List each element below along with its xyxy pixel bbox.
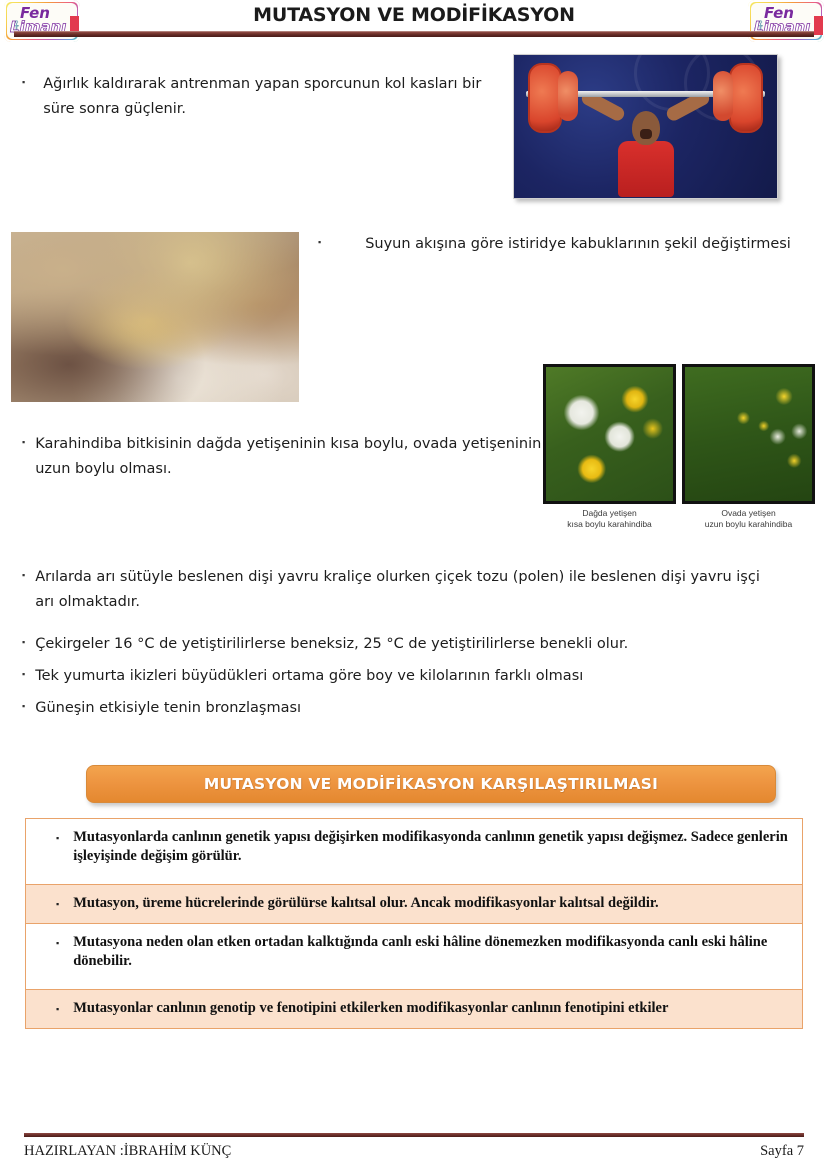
athlete-torso — [618, 141, 674, 197]
plain-dandelion-photo — [682, 364, 815, 504]
dandelion-caption-row: Dağda yetişen kısa boylu karahindiba Ova… — [543, 508, 815, 530]
bullet-marker-icon: ▪ — [56, 828, 59, 848]
footer-divider — [24, 1133, 804, 1137]
bullet-marker-icon: ▪ — [22, 432, 25, 452]
bullet-text-weightlifter: Ağırlık kaldırarak antrenman yapan sporc… — [43, 72, 492, 122]
brand-flag-shape — [814, 16, 823, 35]
athlete-mouth — [640, 129, 652, 139]
page-header: ⚓ Fen Limanı MUTASYON VE MODİFİKASYON ⚓ … — [0, 0, 828, 42]
page-title: MUTASYON VE MODİFİKASYON — [0, 4, 828, 26]
bullet-item-weightlifter: ▪ Ağırlık kaldırarak antrenman yapan spo… — [22, 72, 492, 122]
bullet-marker-icon: ▪ — [22, 565, 25, 585]
footer-page-number: Sayfa 7 — [760, 1143, 804, 1160]
bullet-item-sun: ▪ Güneşin etkisiyle tenin bronzlaşması — [22, 696, 722, 721]
oyster-shells-photo — [11, 232, 299, 402]
bullet-item-grasshopper: ▪ Çekirgeler 16 °C de yetiştirilirlerse … — [22, 632, 722, 657]
bullet-text-dandelion: Karahindiba bitkisinin dağda yetişeninin… — [35, 432, 542, 482]
table-row-text: Mutasyonlar canlının genotip ve fenotipi… — [73, 999, 668, 1018]
footer-author: HAZIRLAYAN :İBRAHİM KÜNÇ — [24, 1143, 231, 1160]
bullet-text-sun: Güneşin etkisiyle tenin bronzlaşması — [35, 696, 301, 721]
dandelion-photo-pair — [543, 364, 815, 504]
bullet-item-oyster: ▪ Suyun akışına göre istiridye kabukları… — [318, 232, 818, 257]
bullet-item-bee: ▪ Arılarda arı sütüyle beslenen dişi yav… — [22, 565, 782, 615]
table-row-text: Mutasyonlarda canlının genetik yapısı de… — [73, 828, 788, 866]
barbell-plate-right — [729, 63, 763, 133]
bullet-marker-icon: ▪ — [22, 696, 25, 716]
bullet-text-bee: Arılarda arı sütüyle beslenen dişi yavru… — [35, 565, 782, 615]
barbell-plate-inner-left — [558, 71, 578, 121]
table-row: ▪ Mutasyonlar canlının genotip ve fenoti… — [26, 990, 802, 1028]
table-row: ▪ Mutasyonlarda canlının genetik yapısı … — [26, 819, 802, 885]
bullet-text-twins: Tek yumurta ikizleri büyüdükleri ortama … — [35, 664, 583, 689]
caption-plain-line1: Ovada yetişen — [682, 508, 815, 519]
bullet-marker-icon: ▪ — [318, 232, 321, 252]
weightlifter-photo — [513, 54, 778, 199]
barbell-plate-left — [528, 63, 562, 133]
table-row-text: Mutasyona neden olan etken ortadan kalkt… — [73, 933, 788, 971]
caption-mountain-line2: kısa boylu karahindiba — [543, 519, 676, 530]
bullet-text-grasshopper: Çekirgeler 16 °C de yetiştirilirlerse be… — [35, 632, 628, 657]
bullet-marker-icon: ▪ — [56, 933, 59, 953]
comparison-table: ▪ Mutasyonlarda canlının genetik yapısı … — [25, 818, 803, 1029]
page-footer: HAZIRLAYAN :İBRAHİM KÜNÇ Sayfa 7 — [0, 1127, 828, 1171]
bullet-text-oyster: Suyun akışına göre istiridye kabuklarını… — [365, 232, 791, 257]
comparison-banner: MUTASYON VE MODİFİKASYON KARŞILAŞTIRILMA… — [86, 765, 776, 803]
comparison-banner-title: MUTASYON VE MODİFİKASYON KARŞILAŞTIRILMA… — [204, 775, 658, 793]
caption-plain-line2: uzun boylu karahindiba — [682, 519, 815, 530]
table-row: ▪ Mutasyona neden olan etken ortadan kal… — [26, 924, 802, 990]
table-row: ▪ Mutasyon, üreme hücrelerinde görülürse… — [26, 885, 802, 924]
bullet-marker-icon: ▪ — [56, 999, 59, 1019]
bullet-marker-icon: ▪ — [22, 72, 25, 92]
bullet-marker-icon: ▪ — [56, 894, 59, 914]
caption-plain-dandelion: Ovada yetişen uzun boylu karahindiba — [682, 508, 815, 530]
bullet-marker-icon: ▪ — [22, 632, 25, 652]
barbell-plate-inner-right — [713, 71, 733, 121]
bullet-marker-icon: ▪ — [22, 664, 25, 684]
caption-mountain-dandelion: Dağda yetişen kısa boylu karahindiba — [543, 508, 676, 530]
header-divider — [14, 31, 814, 37]
bullet-item-dandelion: ▪ Karahindiba bitkisinin dağda yetişenin… — [22, 432, 542, 482]
table-row-text: Mutasyon, üreme hücrelerinde görülürse k… — [73, 894, 658, 913]
bullet-item-twins: ▪ Tek yumurta ikizleri büyüdükleri ortam… — [22, 664, 722, 689]
caption-mountain-line1: Dağda yetişen — [543, 508, 676, 519]
athlete-head — [632, 111, 660, 145]
mountain-dandelion-photo — [543, 364, 676, 504]
